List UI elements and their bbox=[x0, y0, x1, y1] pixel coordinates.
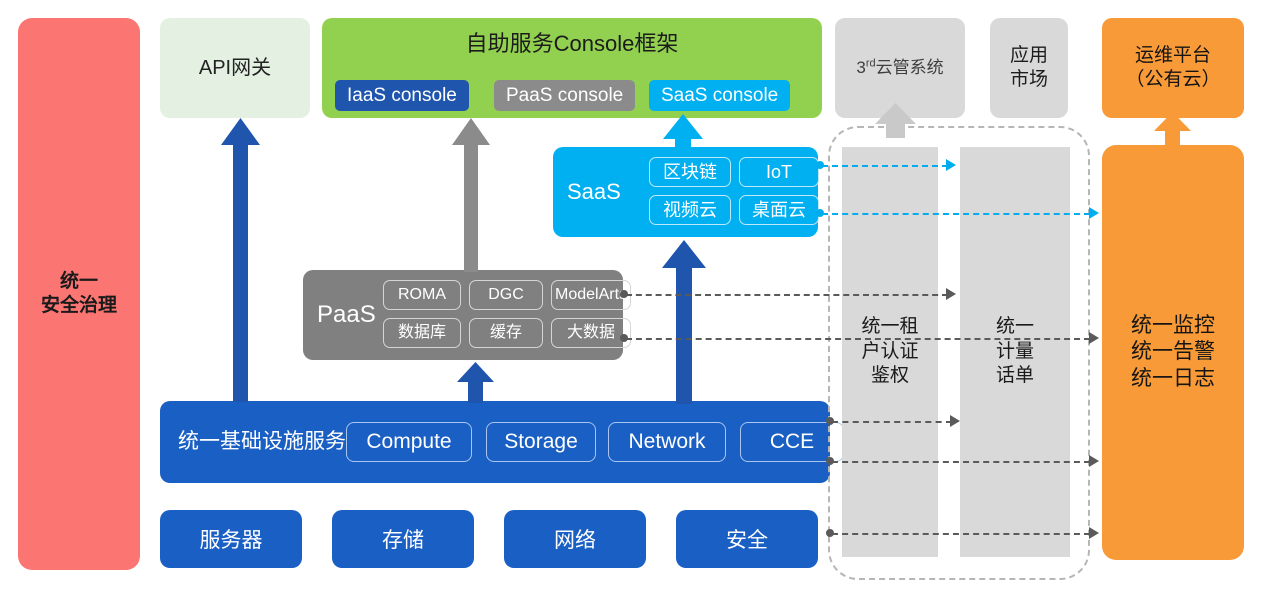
dashed-line-saas-to-monitoring bbox=[822, 213, 1090, 215]
arrow-infra-to-api-gateway bbox=[221, 118, 260, 402]
architecture-diagram: 统一安全治理 API网关 自助服务Console框架 IaaS console … bbox=[0, 0, 1265, 605]
arrowhead-paas-to-monitoring bbox=[1089, 332, 1099, 344]
connector-arrows-layer bbox=[0, 0, 1265, 605]
arrow-saas-to-console bbox=[663, 114, 703, 150]
dashed-line-hardware-to-monitoring bbox=[832, 533, 1090, 535]
arrow-paas-to-console bbox=[452, 118, 490, 272]
arrowhead-saas-to-monitoring bbox=[1089, 207, 1099, 219]
arrowhead-infra-to-auth bbox=[950, 415, 960, 427]
dashed-line-paas-to-auth bbox=[626, 294, 948, 296]
arrowhead-infra-to-monitoring bbox=[1089, 455, 1099, 467]
arrowhead-saas-to-auth bbox=[946, 159, 956, 171]
dashed-line-saas-to-auth bbox=[822, 165, 948, 167]
dashed-line-infra-to-monitoring bbox=[832, 461, 1090, 463]
arrowhead-paas-to-auth bbox=[946, 288, 956, 300]
arrow-infra-to-saas bbox=[662, 240, 706, 404]
arrow-monitoring-to-ops-platform bbox=[1154, 112, 1191, 148]
arrow-infra-to-paas bbox=[457, 362, 494, 403]
arrowhead-hardware-to-monitoring bbox=[1089, 527, 1099, 539]
arrow-shared-to-third-party-cloud bbox=[875, 103, 916, 138]
dashed-line-infra-to-auth bbox=[832, 421, 952, 423]
dashed-line-paas-to-monitoring bbox=[626, 338, 1090, 340]
